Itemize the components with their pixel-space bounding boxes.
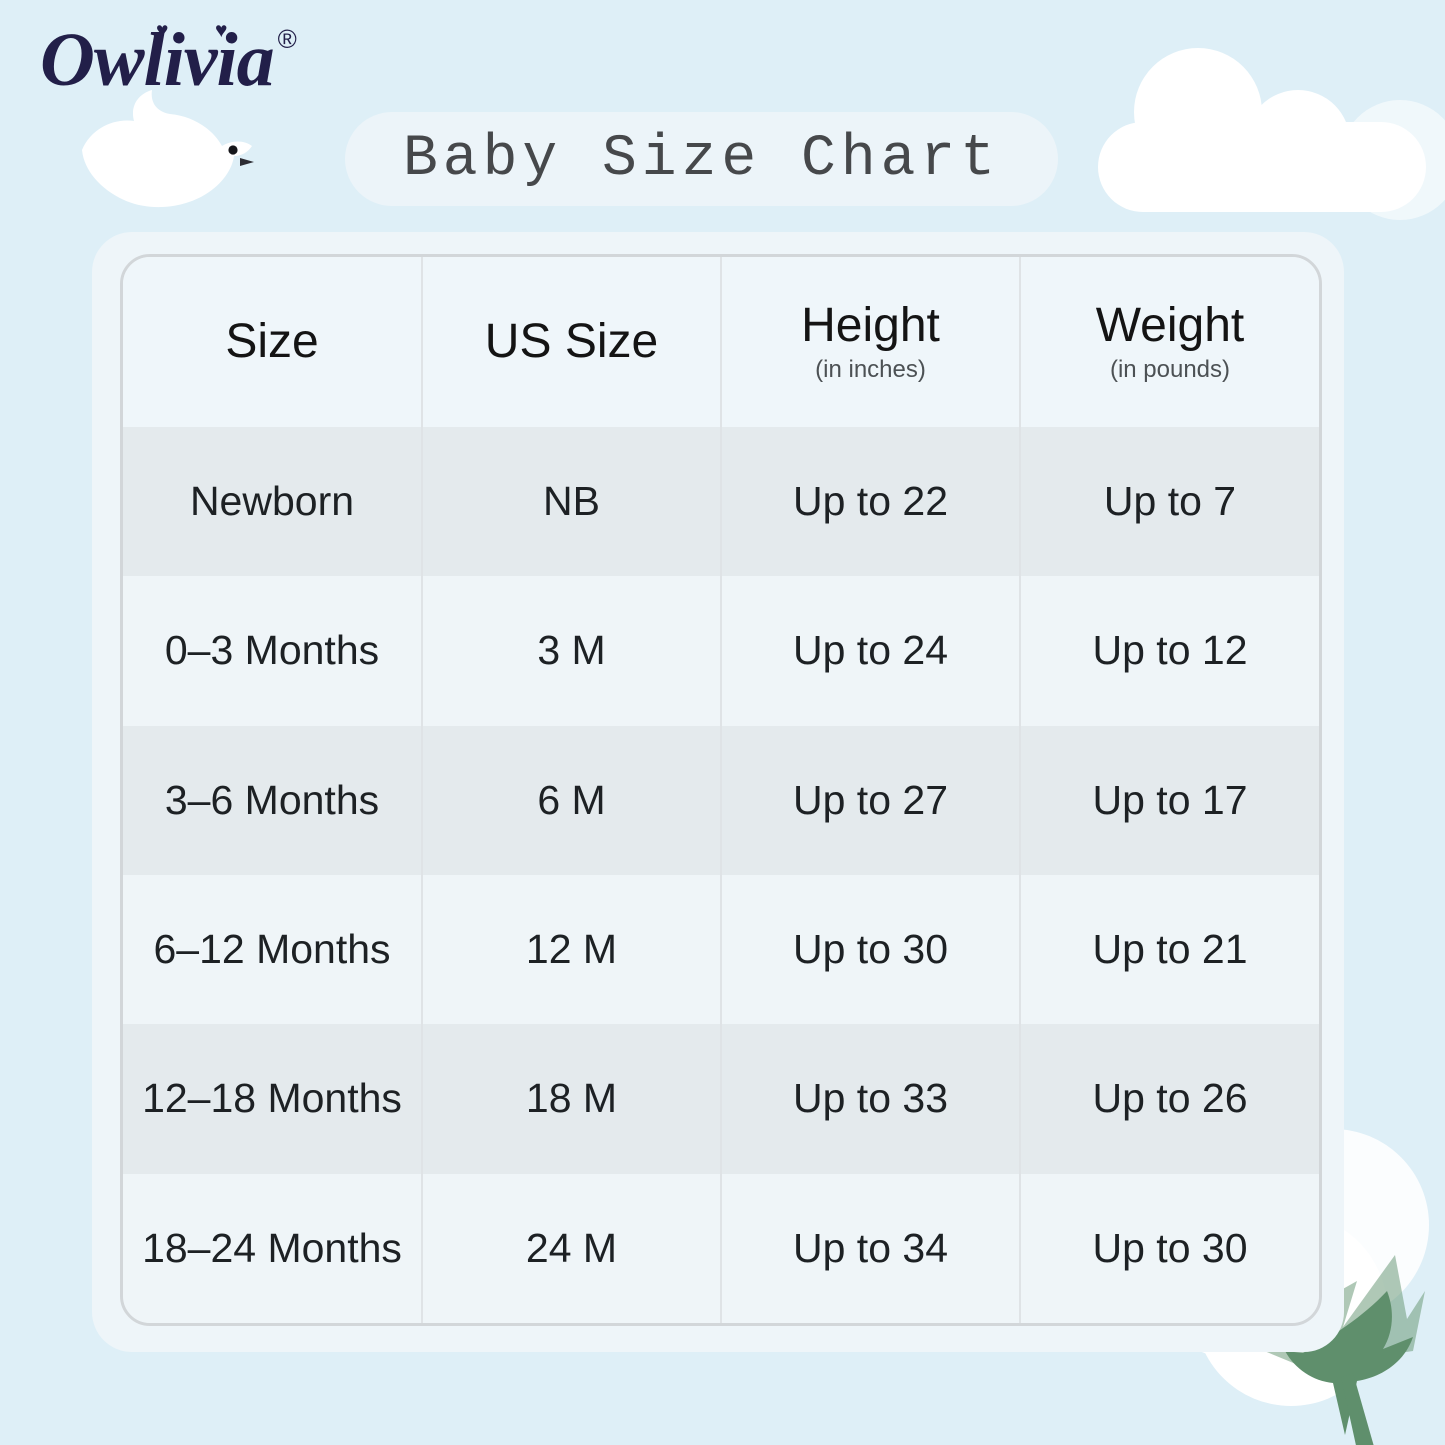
page-title-pill: Baby Size Chart [345, 112, 1058, 206]
cell-us-size: 6 M [422, 726, 721, 875]
table-row: 0–3 Months 3 M Up to 24 Up to 12 [123, 576, 1319, 725]
cell-size: 12–18 Months [123, 1024, 422, 1173]
column-header-us-size: US Size [422, 257, 721, 427]
cell-weight: Up to 12 [1020, 576, 1319, 725]
cell-height: Up to 34 [721, 1174, 1020, 1323]
cell-weight: Up to 30 [1020, 1174, 1319, 1323]
page-title: Baby Size Chart [403, 127, 1000, 192]
table-header-row: Size US Size Height (in inches) Weight (… [123, 257, 1319, 427]
table-row: 18–24 Months 24 M Up to 34 Up to 30 [123, 1174, 1319, 1323]
cell-size: 0–3 Months [123, 576, 422, 725]
cell-size: Newborn [123, 427, 422, 576]
size-chart-page: Owlivia ♥ ♥ ® Baby Size Chart Size [0, 0, 1445, 1445]
cell-weight: Up to 21 [1020, 875, 1319, 1024]
cell-size: 3–6 Months [123, 726, 422, 875]
cell-us-size: 24 M [422, 1174, 721, 1323]
cell-us-size: 12 M [422, 875, 721, 1024]
cell-us-size: 18 M [422, 1024, 721, 1173]
table-row: 3–6 Months 6 M Up to 27 Up to 17 [123, 726, 1319, 875]
cell-size: 6–12 Months [123, 875, 422, 1024]
cell-weight: Up to 26 [1020, 1024, 1319, 1173]
cell-height: Up to 27 [721, 726, 1020, 875]
heart-icon-1: ♥ [156, 20, 167, 41]
cell-height: Up to 33 [721, 1024, 1020, 1173]
brand-wordmark: Owlivia ♥ ♥ [40, 22, 274, 98]
baby-size-chart-table: Size US Size Height (in inches) Weight (… [120, 254, 1322, 1326]
registered-trademark-icon: ® [278, 26, 297, 52]
cell-height: Up to 22 [721, 427, 1020, 576]
cell-us-size: 3 M [422, 576, 721, 725]
table-row: Newborn NB Up to 22 Up to 7 [123, 427, 1319, 576]
cell-us-size: NB [422, 427, 721, 576]
column-header-size: Size [123, 257, 422, 427]
column-header-height: Height (in inches) [721, 257, 1020, 427]
cloud-right-icon [1330, 100, 1445, 220]
cell-height: Up to 24 [721, 576, 1020, 725]
dove-icon [72, 88, 292, 228]
brand-logo: Owlivia ♥ ♥ ® [40, 22, 297, 98]
table-row: 12–18 Months 18 M Up to 33 Up to 26 [123, 1024, 1319, 1173]
cell-height: Up to 30 [721, 875, 1020, 1024]
heart-icon-2: ♥ [215, 20, 226, 41]
cloud-top-right-icon [1048, 38, 1445, 213]
cell-weight: Up to 17 [1020, 726, 1319, 875]
cell-weight: Up to 7 [1020, 427, 1319, 576]
table-row: 6–12 Months 12 M Up to 30 Up to 21 [123, 875, 1319, 1024]
column-header-weight: Weight (in pounds) [1020, 257, 1319, 427]
cell-size: 18–24 Months [123, 1174, 422, 1323]
